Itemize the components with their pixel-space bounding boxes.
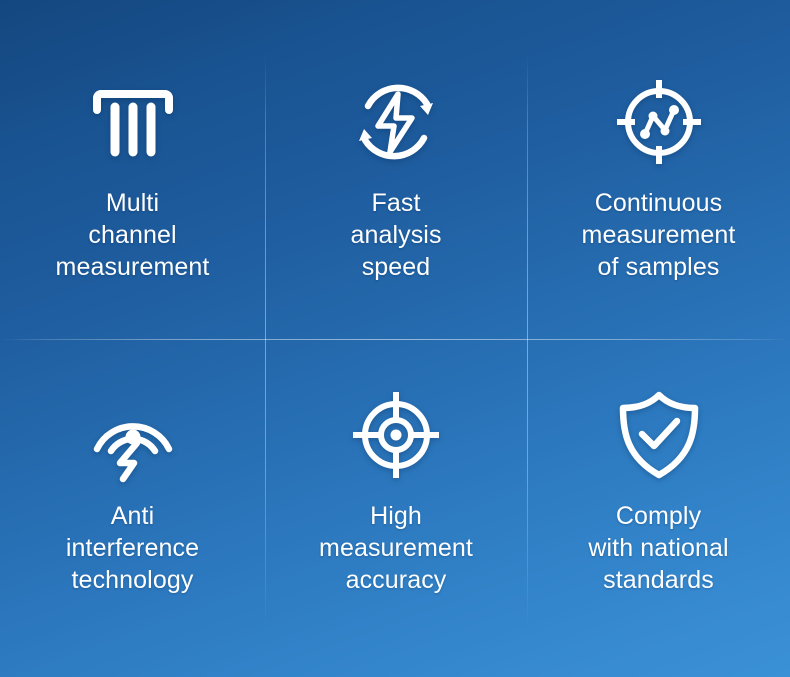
anti-interference-signal-bolt-icon	[85, 387, 181, 483]
features-panel: Multi channel measurement Fast analysis …	[0, 0, 790, 677]
feature-card-anti-interference-technology[interactable]: Anti interference technology	[0, 339, 265, 677]
feature-label: Multi channel measurement	[56, 187, 210, 283]
feature-label: Continuous measurement of samples	[582, 187, 736, 283]
shield-check-icon	[611, 387, 707, 483]
feature-label: High measurement accuracy	[319, 500, 473, 596]
feature-label: Comply with national standards	[588, 500, 728, 596]
high-accuracy-crosshair-target-icon	[348, 387, 444, 483]
feature-card-comply-with-national-standards[interactable]: Comply with national standards	[527, 339, 790, 677]
fast-analysis-refresh-bolt-icon	[348, 74, 444, 170]
feature-label: Fast analysis speed	[350, 187, 441, 283]
feature-card-high-measurement-accuracy[interactable]: High measurement accuracy	[265, 339, 527, 677]
feature-label: Anti interference technology	[66, 500, 199, 596]
feature-card-fast-analysis-speed[interactable]: Fast analysis speed	[265, 0, 527, 339]
feature-card-continuous-measurement[interactable]: Continuous measurement of samples	[527, 0, 790, 339]
feature-card-multi-channel-measurement[interactable]: Multi channel measurement	[0, 0, 265, 339]
feature-grid: Multi channel measurement Fast analysis …	[0, 0, 790, 677]
continuous-measurement-target-chart-icon	[611, 74, 707, 170]
multi-channel-icon	[85, 74, 181, 170]
